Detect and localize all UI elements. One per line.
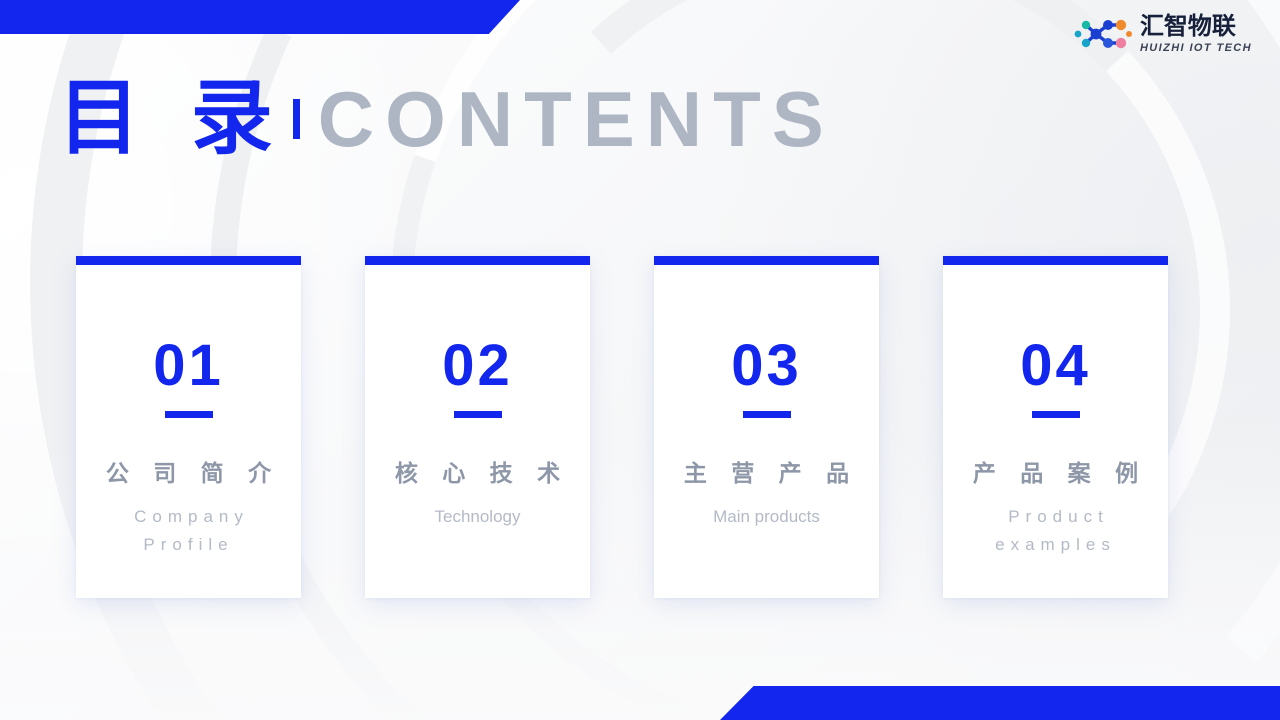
card-underline-rule: [165, 411, 213, 418]
card-title-chinese: 核 心 技 术: [386, 460, 569, 488]
presentation-slide: 汇智物联 HUIZHI IOT TECH 目 录 CONTENTS 01 公 司…: [0, 0, 1280, 720]
card-title-english: Technology: [434, 503, 520, 531]
company-logo: 汇智物联 HUIZHI IOT TECH: [1074, 12, 1252, 56]
bottom-right-accent-bar: [720, 686, 1280, 720]
card-title-chinese: 公 司 简 介: [97, 460, 280, 488]
contents-card-01[interactable]: 01 公 司 简 介 Company Profile: [76, 256, 301, 598]
card-accent-bar: [654, 256, 879, 265]
card-underline-rule: [743, 411, 791, 418]
card-accent-bar: [76, 256, 301, 265]
top-left-accent-bar: [0, 0, 520, 34]
card-number: 04: [1020, 337, 1091, 395]
contents-card-04[interactable]: 04 产 品 案 例 Product examples: [943, 256, 1168, 598]
card-number: 02: [442, 337, 513, 395]
card-title-english: Company Profile: [89, 503, 289, 559]
card-title-chinese: 主 营 产 品: [675, 460, 858, 488]
card-title-english: Main products: [713, 503, 820, 531]
contents-card-02[interactable]: 02 核 心 技 术 Technology: [365, 256, 590, 598]
card-underline-rule: [1032, 411, 1080, 418]
card-number: 01: [153, 337, 224, 395]
card-title-english: Product examples: [956, 503, 1156, 559]
page-title-english: CONTENTS: [318, 80, 835, 158]
page-title: 目 录 CONTENTS: [58, 78, 835, 160]
logo-english-name: HUIZHI IOT TECH: [1140, 43, 1252, 54]
contents-card-03[interactable]: 03 主 营 产 品 Main products: [654, 256, 879, 598]
card-number: 03: [731, 337, 802, 395]
card-title-chinese: 产 品 案 例: [964, 460, 1147, 488]
card-accent-bar: [943, 256, 1168, 265]
logo-chinese-name: 汇智物联: [1140, 15, 1252, 39]
page-title-chinese: 目 录: [58, 78, 287, 160]
logo-wordmark: 汇智物联 HUIZHI IOT TECH: [1140, 15, 1252, 54]
contents-card-list: 01 公 司 简 介 Company Profile 02 核 心 技 术 Te…: [76, 256, 1204, 598]
card-accent-bar: [365, 256, 590, 265]
molecule-network-icon: [1074, 12, 1132, 56]
card-underline-rule: [454, 411, 502, 418]
title-separator-bar: [293, 99, 300, 139]
